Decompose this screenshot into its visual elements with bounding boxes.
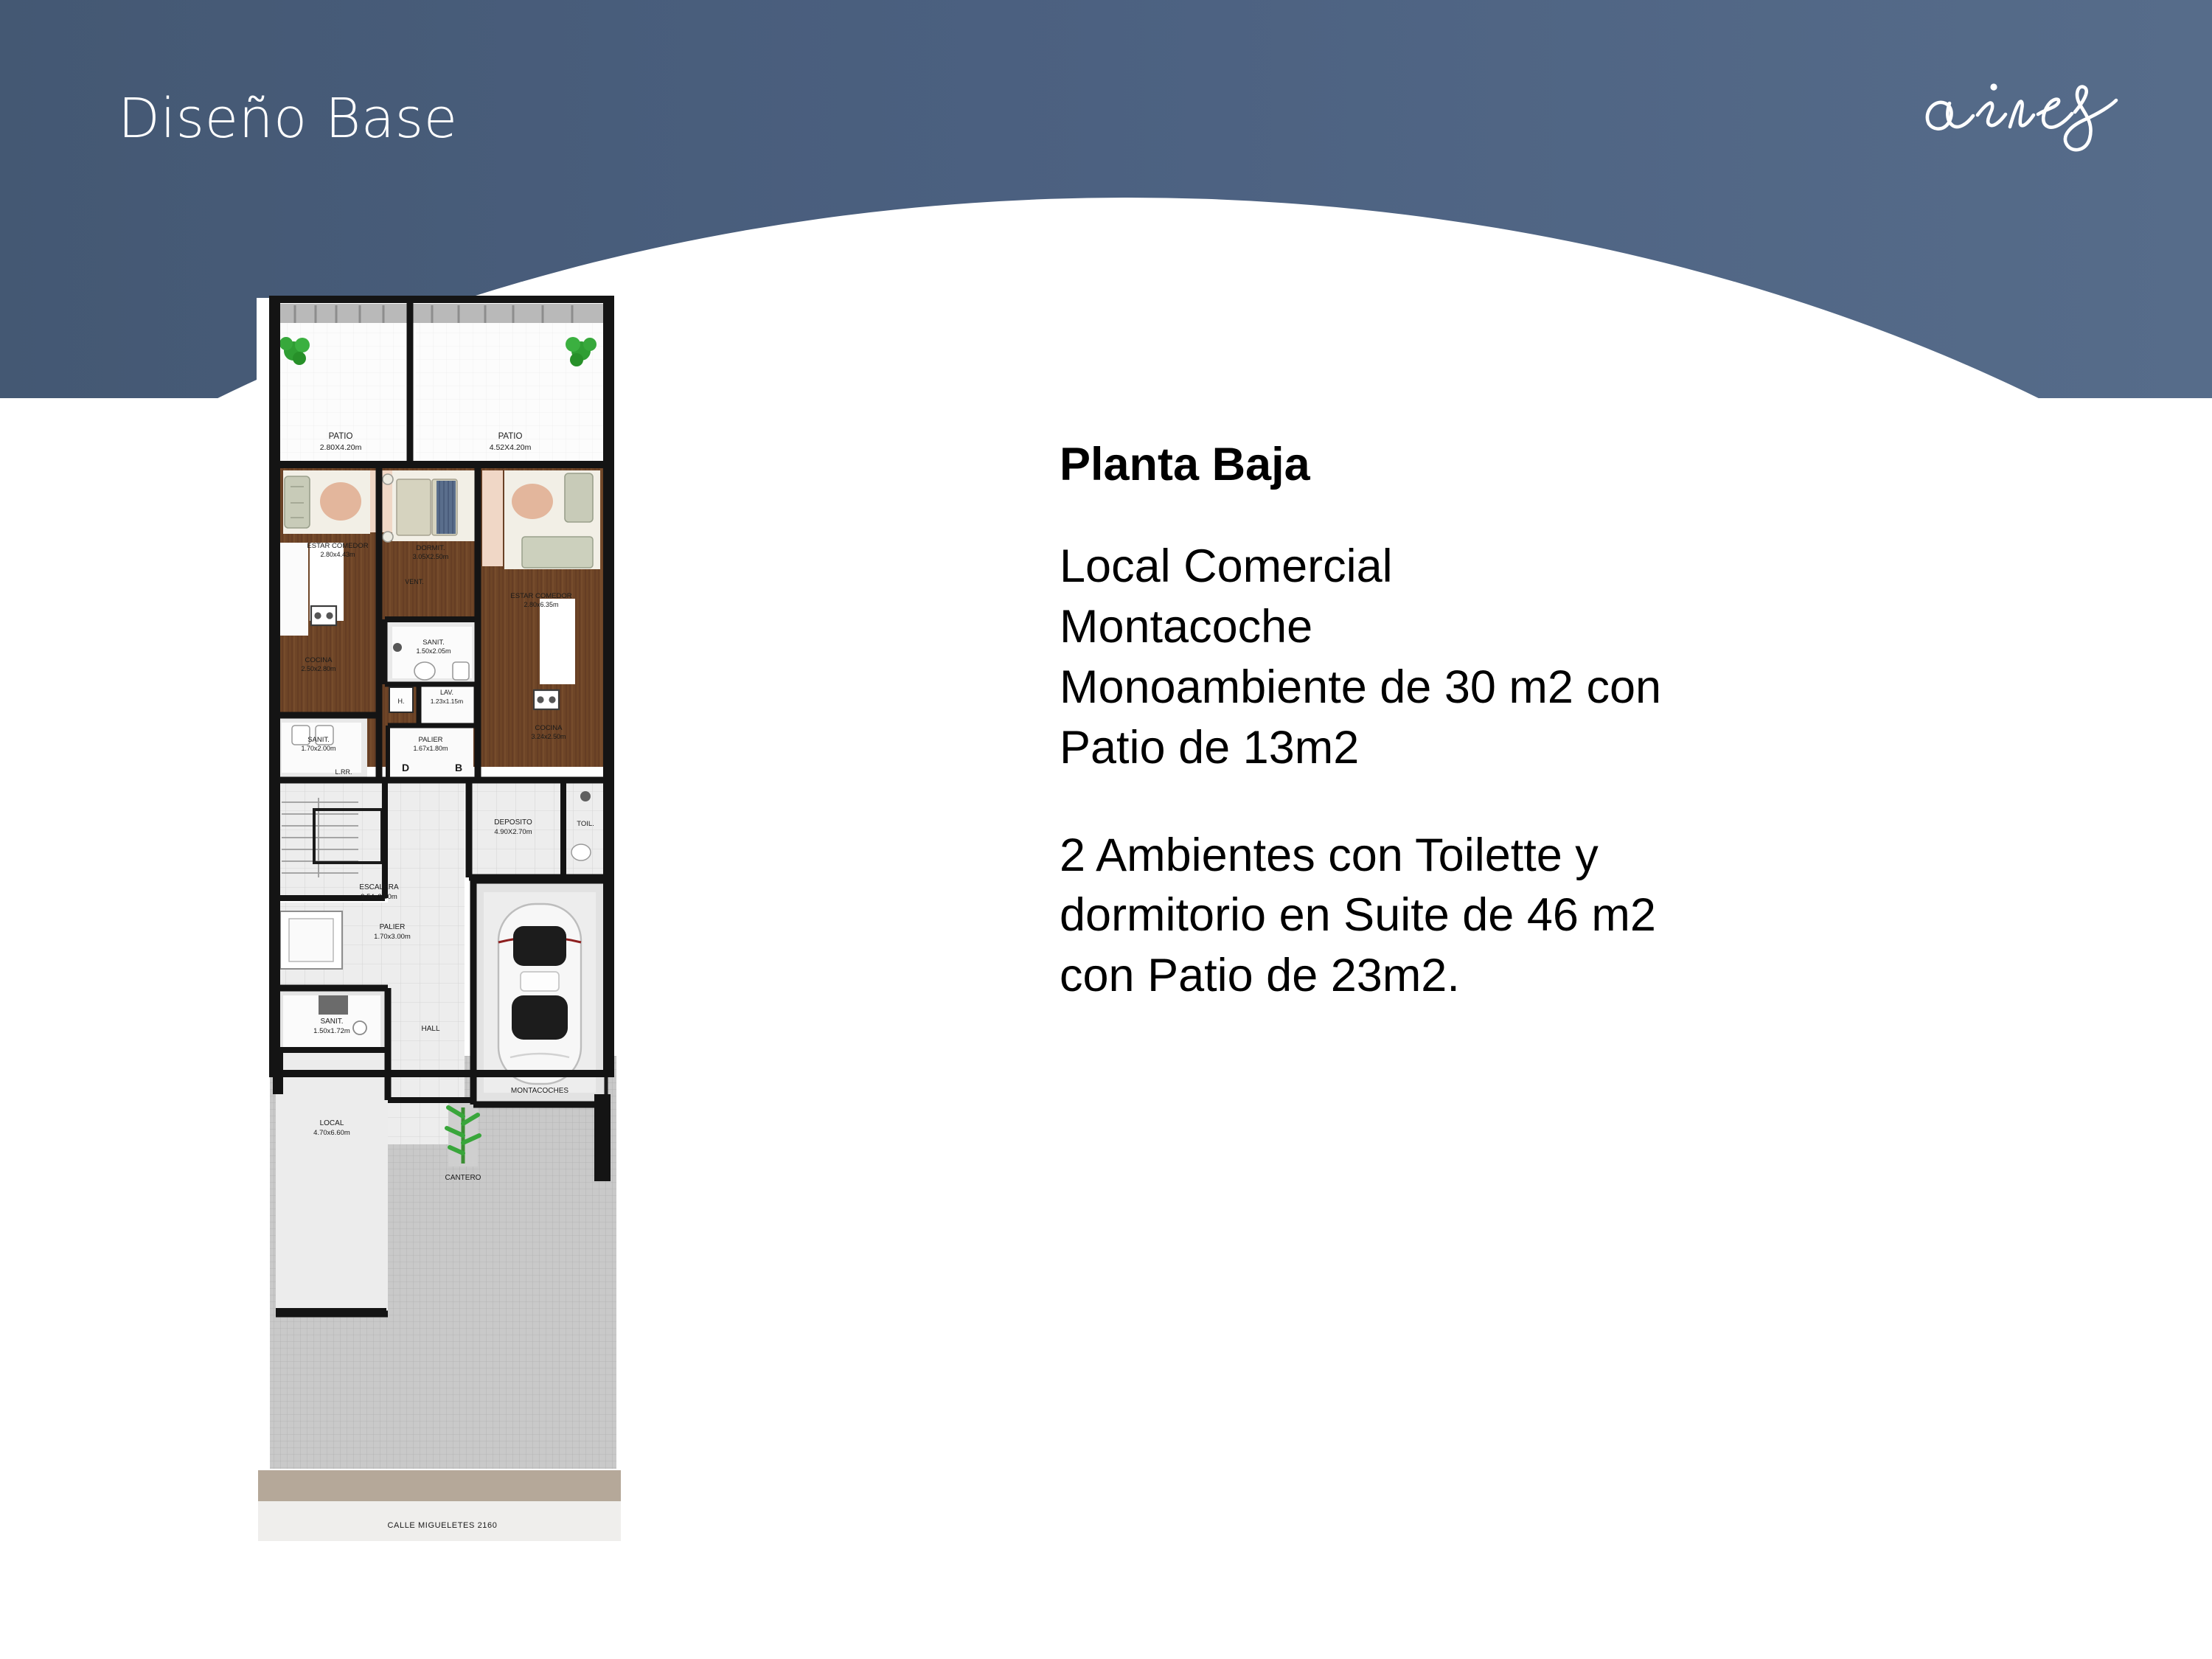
room-label-13-dims: 1.70x3.00m: [374, 933, 411, 941]
room-label-6-name: COCINA: [535, 724, 563, 732]
paragraph-1-line-3: Monoambiente de 30 m2 con: [1060, 658, 1989, 718]
room-label-0-dims: 2.80X4.20m: [320, 443, 362, 452]
plant-icon-cantero: [447, 1103, 479, 1166]
room-label-3-dims: 3.05X2.50m: [413, 553, 449, 560]
room-label-10-dims: 1.67x1.80m: [413, 745, 448, 752]
floor-plan-image: PATIO 2.80X4.20m PATIO 4.52X4.20m ESTAR …: [248, 293, 639, 1569]
section-heading: Planta Baja: [1060, 439, 1989, 490]
room-label-7-dims: 1.50x2.05m: [416, 647, 451, 655]
room-label-6-dims: 3.24x2.50m: [531, 733, 566, 740]
paragraph-1-line-4: Patio de 13m2: [1060, 718, 1989, 779]
kitchen-right: [534, 690, 559, 709]
room-label-montacoches: MONTACOCHES: [511, 1087, 568, 1095]
room-label-2-name: ESTAR COMEDOR: [307, 542, 368, 550]
label-toil: TOIL.: [577, 820, 594, 828]
room-label-4-name: ESTAR COMEDOR: [510, 592, 571, 600]
door-marker-b: B: [455, 762, 462, 773]
aires-brand-logo: [1901, 41, 2166, 174]
room-label-hall: HALL: [421, 1025, 439, 1033]
door-marker-d: D: [402, 762, 409, 773]
room-label-12-name: ESCALERA: [359, 883, 399, 891]
label-lrr: L.RR.: [335, 768, 352, 776]
street-caption: CALLE MIGUELETES 2160: [388, 1521, 498, 1530]
room-label-9-name: SANIT.: [307, 736, 330, 744]
plan-zone-patios: [277, 304, 606, 463]
room-label-3-name: DORMIT.: [416, 544, 445, 552]
room-label-1-name: PATIO: [498, 432, 523, 441]
plan-zone-local: [276, 991, 388, 1315]
room-label-15-dims: 4.70x6.60m: [313, 1129, 350, 1137]
furniture-dormitorio: [383, 470, 479, 542]
room-label-15-name: LOCAL: [320, 1119, 344, 1127]
room-label-14-dims: 1.50x1.72m: [313, 1027, 350, 1035]
paragraph-1-line-2: Montacoche: [1060, 597, 1989, 658]
paragraph-2-line-1: 2 Ambientes con Toilette y: [1060, 826, 1989, 886]
paragraph-1-line-1: Local Comercial: [1060, 537, 1989, 597]
room-label-4-dims: 2.80x6.35m: [524, 601, 558, 608]
room-label-5-name: COCINA: [305, 656, 333, 664]
paragraph-2-line-3: con Patio de 23m2.: [1060, 946, 1989, 1006]
room-label-7-name: SANIT.: [422, 639, 445, 647]
room-label-12-dims: 3.54x3.00m: [361, 893, 397, 901]
room-label-2-dims: 2.80x4.43m: [320, 551, 355, 558]
floor-plan-svg: PATIO 2.80X4.20m PATIO 4.52X4.20m ESTAR …: [248, 293, 639, 1569]
room-label-11-name: DEPOSITO: [494, 818, 532, 827]
room-label-11-dims: 4.90X2.70m: [494, 828, 532, 836]
room-label-8-name: LAV.: [440, 689, 453, 696]
car-icon: [498, 904, 581, 1084]
label-vent: VENT.: [405, 578, 424, 585]
room-label-1-dims: 4.52X4.20m: [490, 443, 532, 452]
room-label-10-name: PALIER: [418, 736, 442, 744]
page-title: Diseño Base: [118, 87, 458, 150]
paragraph-2-line-2: dormitorio en Suite de 46 m2: [1060, 886, 1989, 946]
description-paragraph-1: Local Comercial Montacoche Monoambiente …: [1060, 537, 1989, 779]
room-label-9-dims: 1.70x2.00m: [301, 745, 335, 752]
room-label-8-dims: 1.23x1.15m: [431, 698, 463, 705]
room-label-13-name: PALIER: [380, 923, 406, 931]
description-paragraph-2: 2 Ambientes con Toilette y dormitorio en…: [1060, 826, 1989, 1007]
room-label-0-name: PATIO: [329, 432, 353, 441]
room-label-cantero: CANTERO: [445, 1174, 481, 1182]
room-label-5-dims: 2.50x2.80m: [301, 665, 335, 672]
room-label-14-name: SANIT.: [320, 1018, 343, 1026]
slide-root: Diseño Base Planta Baja Local Comercia: [0, 0, 2212, 1659]
description-panel: Planta Baja Local Comercial Montacoche M…: [1060, 439, 1989, 1006]
label-h: H.: [398, 698, 405, 705]
